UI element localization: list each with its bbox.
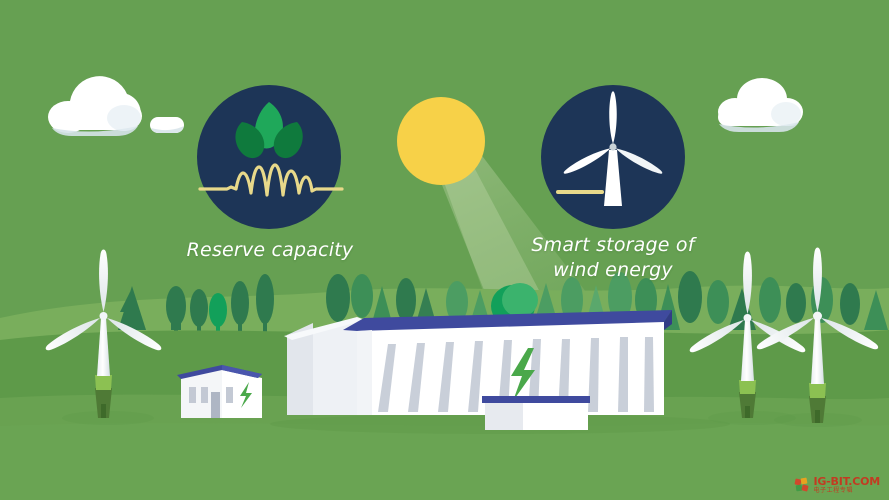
watermark-text: IG-BIT.COM 电子工程专辑 (813, 476, 880, 494)
storage-bar-icon (556, 190, 604, 194)
illustration-canvas: Reserve capacity Smart storage of wind e… (0, 0, 889, 500)
smart-storage-badge[interactable] (541, 85, 685, 229)
watermark-subtitle: 电子工程专辑 (813, 488, 880, 494)
reserve-capacity-badge[interactable] (197, 85, 342, 229)
watermark-title: IG-BIT.COM (813, 476, 880, 487)
watermark-logo-icon (795, 478, 810, 493)
feature-icons-layer (0, 0, 889, 500)
watermark: IG-BIT.COM 电子工程专辑 (792, 474, 883, 496)
